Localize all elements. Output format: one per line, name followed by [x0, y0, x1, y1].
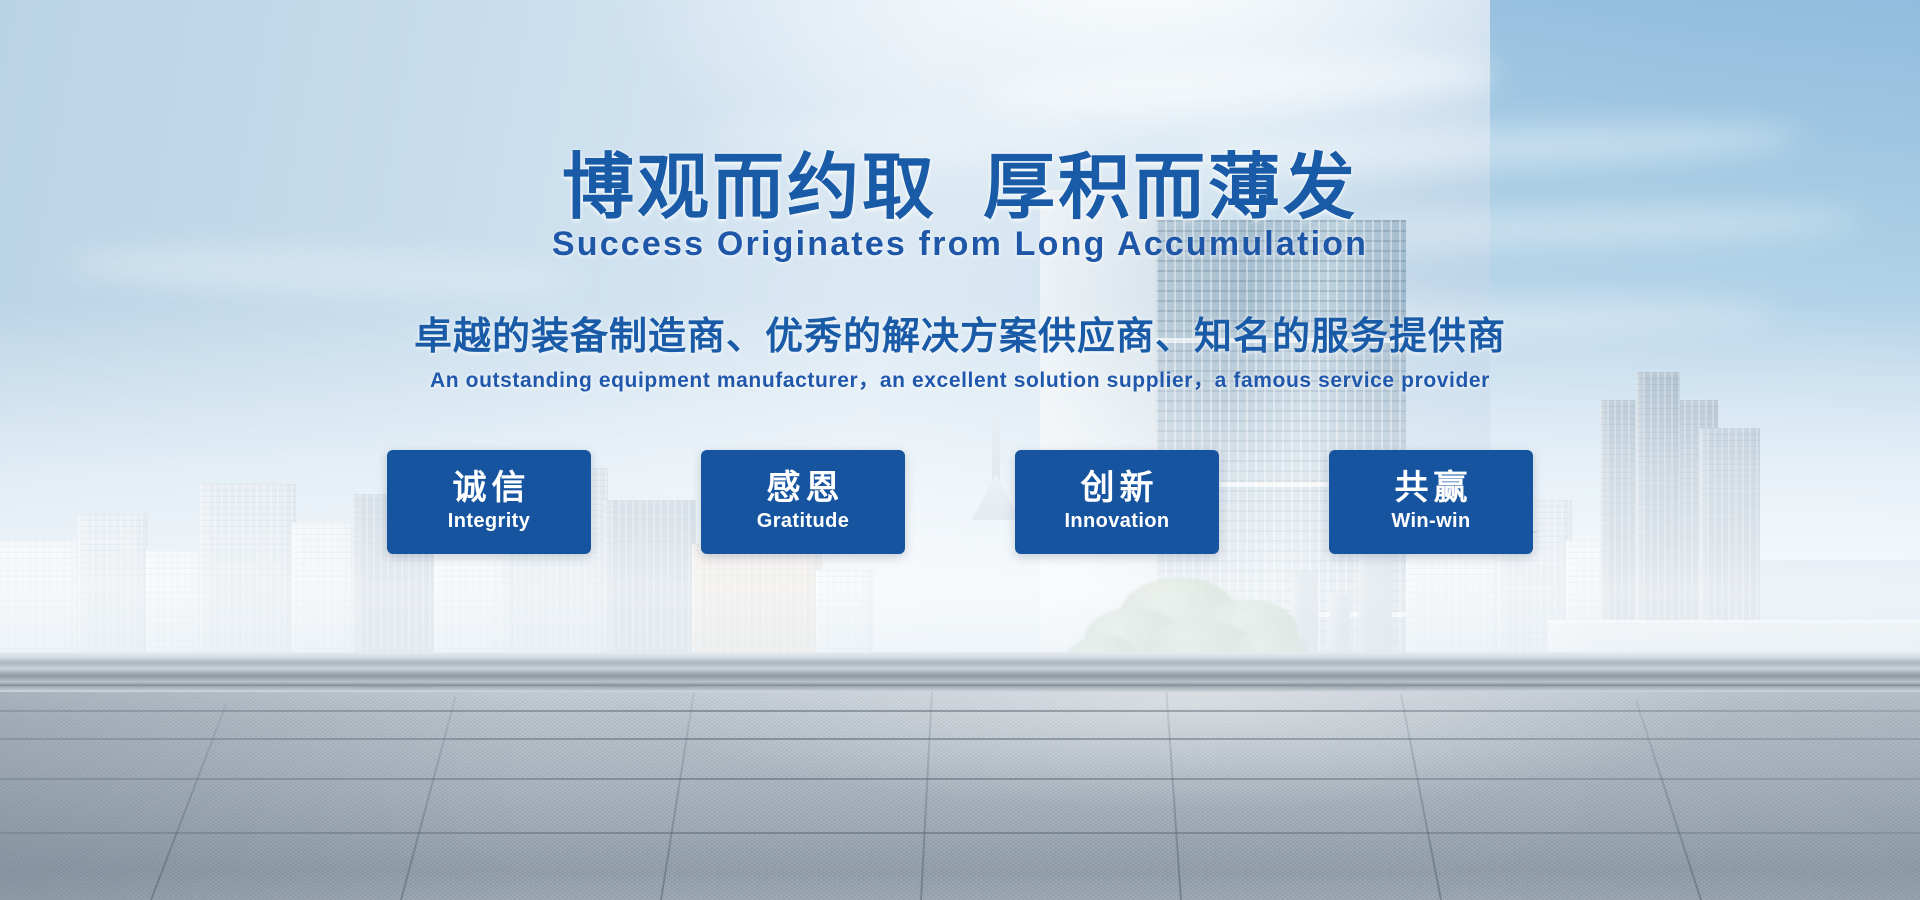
value-card-label-en: Win-win — [1391, 510, 1470, 533]
value-card-gratitude[interactable]: 感恩 Gratitude — [701, 450, 905, 554]
value-card-innovation[interactable]: 创新 Innovation — [1015, 450, 1219, 554]
value-card-label-en: Integrity — [448, 510, 531, 533]
value-card-label-cn: 感恩 — [762, 471, 845, 507]
hero-banner: 博观而约取 厚积而薄发 Success Originates from Long… — [0, 0, 1920, 900]
core-values-list: 诚信 Integrity 感恩 Gratitude 创新 Innovation … — [0, 450, 1920, 554]
tagline-chinese: 卓越的装备制造商、优秀的解决方案供应商、知名的服务提供商 — [0, 305, 1920, 360]
headline-chinese: 博观而约取 厚积而薄发 — [0, 128, 1920, 233]
value-card-integrity[interactable]: 诚信 Integrity — [387, 450, 591, 554]
banner-content: 博观而约取 厚积而薄发 Success Originates from Long… — [0, 0, 1920, 900]
value-card-winwin[interactable]: 共赢 Win-win — [1329, 450, 1533, 554]
value-card-label-en: Innovation — [1064, 510, 1169, 533]
tagline-english: An outstanding equipment manufacturer，an… — [0, 364, 1920, 394]
value-card-label-cn: 诚信 — [448, 471, 531, 507]
value-card-label-en: Gratitude — [757, 510, 850, 533]
value-card-label-cn: 创新 — [1076, 471, 1159, 507]
headline-english: Success Originates from Long Accumulatio… — [0, 225, 1920, 264]
value-card-label-cn: 共赢 — [1390, 471, 1473, 507]
